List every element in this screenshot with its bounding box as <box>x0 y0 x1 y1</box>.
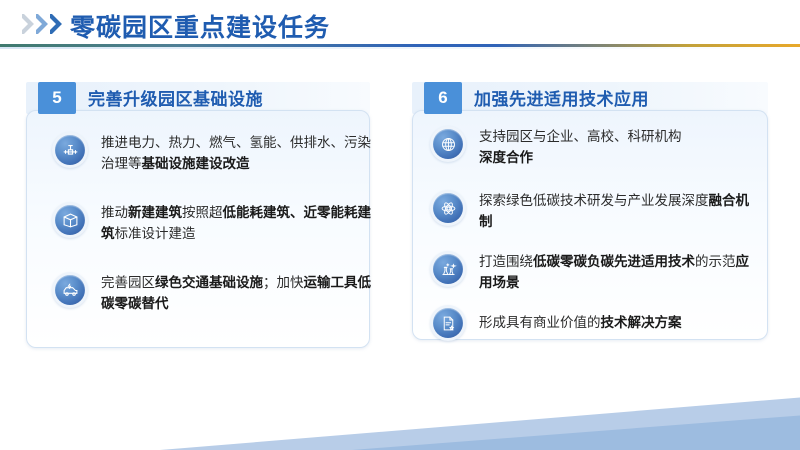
card-title-5: 完善升级园区基础设施 <box>88 85 263 110</box>
list-item: 推进电力、热力、燃气、氢能、供排水、污染治理等基础设施建设改造 <box>52 132 373 174</box>
list-item-text: 推进电力、热力、燃气、氢能、供排水、污染治理等基础设施建设改造 <box>101 132 373 174</box>
network-collaboration-icon <box>430 126 466 162</box>
list-item: 完善园区绿色交通基础设施；加快运输工具低碳零碳替代 <box>52 272 373 314</box>
list-item: 推动新建建筑按照超低能耗建筑、近零能耗建筑标准设计建造 <box>52 202 373 244</box>
list-item-text: 打造围绕低碳零碳负碳先进适用技术的示范应用场景 <box>479 251 751 293</box>
list-item: 支持园区与企业、高校、科研机构深度合作 <box>430 126 682 168</box>
list-item-text: 完善园区绿色交通基础设施；加快运输工具低碳零碳替代 <box>101 272 373 314</box>
document-solution-icon <box>430 305 466 341</box>
list-item-text: 探索绿色低碳技术研发与产业发展深度融合机制 <box>479 190 751 232</box>
atom-research-icon <box>430 190 466 226</box>
card-title-6: 加强先进适用技术应用 <box>474 85 649 110</box>
electric-car-icon <box>52 272 88 308</box>
page-title: 零碳园区重点建设任务 <box>70 8 330 44</box>
pipeline-valve-icon <box>52 132 88 168</box>
list-item-text: 支持园区与企业、高校、科研机构深度合作 <box>479 126 682 168</box>
lab-experiment-icon <box>430 251 466 287</box>
card-number-badge-6: 6 <box>424 82 462 114</box>
list-item-text: 推动新建建筑按照超低能耗建筑、近零能耗建筑标准设计建造 <box>101 202 373 244</box>
header-rule-shadow <box>0 47 800 49</box>
list-item-text: 形成具有商业价值的技术解决方案 <box>479 305 682 333</box>
list-item: 打造围绕低碳零碳负碳先进适用技术的示范应用场景 <box>430 251 751 293</box>
building-blueprint-icon <box>52 202 88 238</box>
double-chevron-right-icon <box>22 14 63 34</box>
page-header: 零碳园区重点建设任务 <box>0 0 800 52</box>
list-item: 形成具有商业价值的技术解决方案 <box>430 305 682 341</box>
card-number-badge-5: 5 <box>38 82 76 114</box>
list-item: 探索绿色低碳技术研发与产业发展深度融合机制 <box>430 190 751 232</box>
